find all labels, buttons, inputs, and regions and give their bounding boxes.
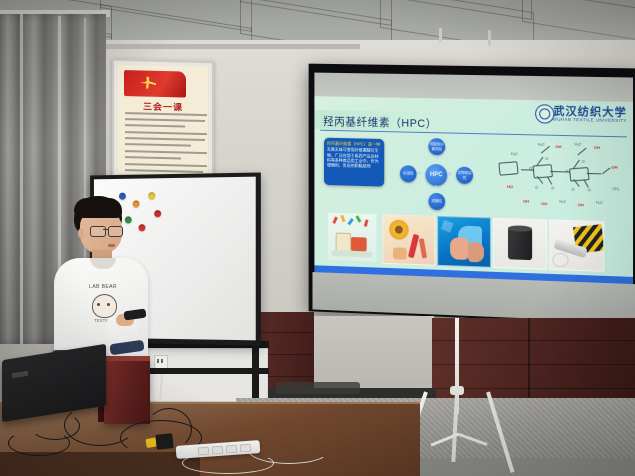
tshirt-graphic-bear-icon [92, 294, 117, 318]
tripod-hub [450, 386, 464, 395]
outlet-slot-icon [161, 359, 163, 363]
slide-title: 羟丙基纤维素（HPC） [323, 113, 437, 131]
wall-poster: 三会一课 [118, 65, 208, 175]
presentation-slide: 武汉纺织大学 WUHAN TEXTILE UNIVERSITY 羟丙基纤维素（H… [314, 96, 633, 277]
wall-scuff [276, 382, 360, 394]
ceiling-screen-mount [432, 42, 450, 52]
glasses-bridge [103, 229, 109, 230]
screen-mount-arm [488, 30, 491, 46]
tshirt-graphic-eye-icon [107, 303, 110, 306]
desk-front [0, 452, 200, 476]
diagram-node-center: HPC [425, 164, 447, 186]
wall-poster-frame: 三会一课 [112, 59, 214, 181]
arrow-right-icon: ▶ [418, 170, 423, 177]
slide-textbox: 羟丙基纤维素（HPC）是一种 无臭无味可食用纤维素醚衍生物，广泛应用于医药产品及… [324, 138, 384, 187]
glasses-lens-left [90, 226, 106, 237]
arrow-right-icon: ▶ [448, 170, 453, 177]
projector-screen: 武汉纺织大学 WUHAN TEXTILE UNIVERSITY 羟丙基纤维素（H… [309, 64, 635, 325]
slide-divider [320, 130, 627, 138]
power-plug [155, 433, 173, 450]
application-image-black-cylinder [493, 218, 547, 270]
arrow-down-icon: ▼ [433, 185, 439, 191]
diagram-node-bottom: 成膜性 [428, 193, 445, 210]
diagram-node-right: 生物相容性 [456, 167, 473, 184]
application-image-tool [549, 219, 604, 271]
outlet-slot-icon [157, 359, 159, 363]
slide-textbox-body: 无臭无味可食用纤维素醚衍生物，广泛应用于医药产品及材料等多种商品用工业中，作为增… [327, 147, 381, 169]
presenter-ear [78, 228, 84, 238]
university-name-en: WUHAN TEXTILE UNIVERSITY [553, 117, 627, 124]
presenter-mouth [108, 244, 115, 247]
curtain-fold-highlight [20, 14, 23, 344]
diagram-node-left: 水溶性 [400, 165, 417, 182]
application-image-blue-gel [437, 216, 491, 268]
presenter-hair-fringe [74, 198, 122, 218]
whiteboard-leg [252, 341, 259, 405]
application-image-pills [328, 213, 377, 262]
tshirt-graphic-text-top: LAB BEAR [84, 284, 122, 290]
glasses-lens-right [108, 226, 123, 237]
podium-box-top [104, 356, 150, 361]
classroom-presentation-photo: 三会一课 武汉纺织大学 WUHAN TEXTILE UNIVERSITY 羟丙基… [0, 0, 635, 476]
university-logo-inner-icon [539, 108, 550, 119]
diagram-node-top: 热致相分离特性 [428, 138, 445, 155]
application-image-cosmetics [382, 214, 435, 265]
arrow-up-icon: ▲ [433, 154, 439, 160]
tshirt-graphic-eye-icon [97, 303, 100, 306]
chemical-structure: H₃C OH H₃C OH H₃C HO OH CH₃ O O O O O O … [511, 138, 631, 220]
